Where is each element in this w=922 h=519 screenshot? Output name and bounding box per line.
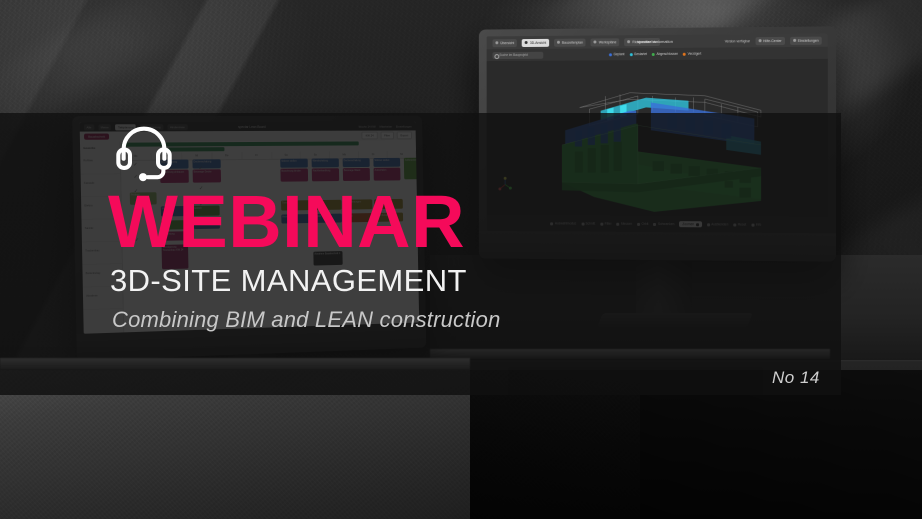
help-icon <box>758 39 761 42</box>
nav-label: Werkspläne <box>599 40 617 44</box>
nav-item-1[interactable]: 3D-Ansicht <box>522 38 549 46</box>
episode-number: No 14 <box>772 368 820 388</box>
calendar-icon <box>557 41 560 44</box>
nav-label: 3D-Ansicht <box>530 40 546 44</box>
title-overlay-band-lower <box>0 347 841 395</box>
legend-item-1: Gestartet <box>629 52 647 56</box>
settings-button[interactable]: Einstellungen <box>790 36 822 44</box>
legend-label: Verzögert <box>688 52 702 56</box>
legend-label: Abgeschlossen <box>657 52 679 56</box>
account-area: Version verfügbar Hilfe-Center Einstellu… <box>725 36 822 45</box>
nav-item-0[interactable]: Übersicht <box>492 39 517 47</box>
nav-label: Bauzeitenplan <box>562 40 583 44</box>
page-tagline: Combining BIM and LEAN construction <box>112 309 501 331</box>
headset-icon <box>113 120 175 182</box>
legend-item-0: Geplant <box>609 52 625 56</box>
status-legend: Geplant Gestartet Abgeschlossen Verzöger… <box>609 52 701 57</box>
version-status: Version verfügbar <box>725 39 750 43</box>
document-icon <box>594 40 597 43</box>
help-label: Hilfe-Center <box>763 38 781 42</box>
webinar-promo-slide: Übersicht 3D-Ansicht Bauzeitenplan Werks… <box>0 0 922 519</box>
settings-label: Einstellungen <box>798 38 819 42</box>
page-title: WEBINAR <box>108 185 465 259</box>
legend-label: Geplant <box>613 52 624 56</box>
cube-icon <box>525 41 528 44</box>
brand-name: spectar <box>637 39 651 44</box>
nav-item-3[interactable]: Werkspläne <box>591 38 620 46</box>
nav-item-2[interactable]: Bauzeitenplan <box>554 38 586 46</box>
app-brand: spectar automation <box>637 39 673 44</box>
search-input[interactable]: Suche im Bauprojekt <box>492 51 543 58</box>
gear-icon <box>793 39 796 42</box>
menu-icon <box>495 41 498 44</box>
nav-label: Übersicht <box>500 41 514 45</box>
brand-suffix: automation <box>653 39 673 44</box>
legend-item-2: Abgeschlossen <box>652 52 678 56</box>
list-icon <box>627 40 630 43</box>
help-center-button[interactable]: Hilfe-Center <box>755 36 785 44</box>
legend-label: Gestartet <box>634 52 647 56</box>
legend-item-3: Verzögert <box>683 52 701 56</box>
page-subtitle: 3D-SITE MANAGEMENT <box>110 265 467 296</box>
